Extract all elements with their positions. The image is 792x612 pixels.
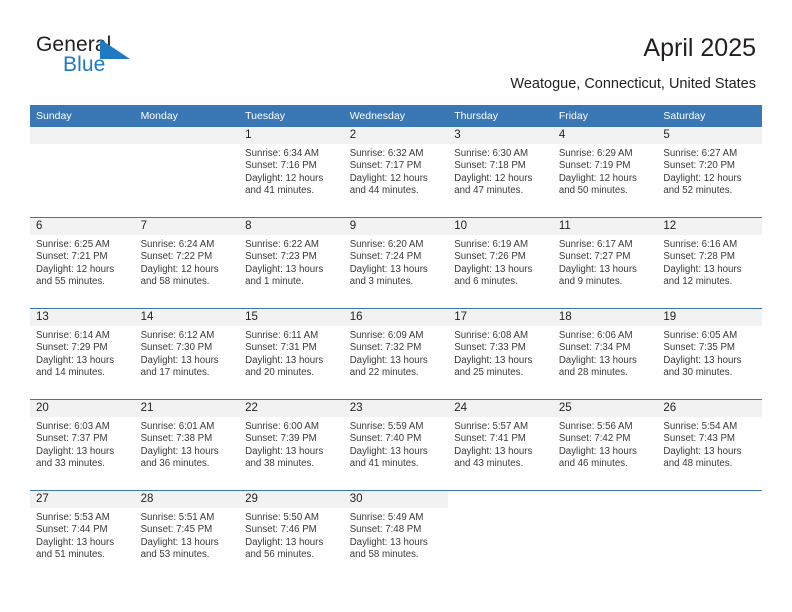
day-sun-info: Sunrise: 6:03 AMSunset: 7:37 PMDaylight:… [30, 417, 135, 471]
day-cell-inner: 23Sunrise: 5:59 AMSunset: 7:40 PMDayligh… [344, 400, 449, 490]
sunset-time: Sunset: 7:29 PM [36, 342, 129, 354]
day-cell-inner: 14Sunrise: 6:12 AMSunset: 7:30 PMDayligh… [135, 309, 240, 399]
day-sun-info: Sunrise: 6:06 AMSunset: 7:34 PMDaylight:… [553, 326, 658, 380]
calendar-day-cell[interactable]: 11Sunrise: 6:17 AMSunset: 7:27 PMDayligh… [553, 218, 658, 309]
day-number: 9 [344, 218, 449, 235]
day-cell-inner: 6Sunrise: 6:25 AMSunset: 7:21 PMDaylight… [30, 218, 135, 308]
calendar-day-cell[interactable]: 7Sunrise: 6:24 AMSunset: 7:22 PMDaylight… [135, 218, 240, 309]
daylight-duration-line2: and 6 minutes. [454, 276, 547, 288]
day-number: 6 [30, 218, 135, 235]
daylight-duration-line1: Daylight: 12 hours [141, 264, 234, 276]
sunrise-time: Sunrise: 6:22 AM [245, 239, 338, 251]
day-number: 11 [553, 218, 658, 235]
daylight-duration-line2: and 38 minutes. [245, 458, 338, 470]
sunrise-time: Sunrise: 6:08 AM [454, 330, 547, 342]
day-sun-info: Sunrise: 6:05 AMSunset: 7:35 PMDaylight:… [657, 326, 762, 380]
daylight-duration-line1: Daylight: 13 hours [663, 264, 756, 276]
sunset-time: Sunset: 7:27 PM [559, 251, 652, 263]
day-cell-inner [30, 127, 135, 217]
daylight-duration-line1: Daylight: 12 hours [245, 173, 338, 185]
calendar-day-cell[interactable]: 27Sunrise: 5:53 AMSunset: 7:44 PMDayligh… [30, 491, 135, 582]
sunrise-time: Sunrise: 5:50 AM [245, 512, 338, 524]
sunrise-time: Sunrise: 5:49 AM [350, 512, 443, 524]
day-cell-inner [135, 127, 240, 217]
day-cell-inner: 25Sunrise: 5:56 AMSunset: 7:42 PMDayligh… [553, 400, 658, 490]
day-number: 23 [344, 400, 449, 417]
day-cell-inner: 19Sunrise: 6:05 AMSunset: 7:35 PMDayligh… [657, 309, 762, 399]
sunrise-time: Sunrise: 6:12 AM [141, 330, 234, 342]
day-sun-info: Sunrise: 6:19 AMSunset: 7:26 PMDaylight:… [448, 235, 553, 289]
day-cell-inner: 15Sunrise: 6:11 AMSunset: 7:31 PMDayligh… [239, 309, 344, 399]
day-cell-inner: 29Sunrise: 5:50 AMSunset: 7:46 PMDayligh… [239, 491, 344, 581]
calendar-day-cell[interactable]: 3Sunrise: 6:30 AMSunset: 7:18 PMDaylight… [448, 127, 553, 218]
day-cell-inner: 18Sunrise: 6:06 AMSunset: 7:34 PMDayligh… [553, 309, 658, 399]
sunrise-time: Sunrise: 6:29 AM [559, 148, 652, 160]
sunrise-time: Sunrise: 6:17 AM [559, 239, 652, 251]
daylight-duration-line1: Daylight: 13 hours [245, 446, 338, 458]
day-sun-info: Sunrise: 5:53 AMSunset: 7:44 PMDaylight:… [30, 508, 135, 562]
day-sun-info: Sunrise: 5:54 AMSunset: 7:43 PMDaylight:… [657, 417, 762, 471]
sunset-time: Sunset: 7:30 PM [141, 342, 234, 354]
day-sun-info: Sunrise: 6:27 AMSunset: 7:20 PMDaylight:… [657, 144, 762, 198]
sunset-time: Sunset: 7:41 PM [454, 433, 547, 445]
calendar-week-row: 20Sunrise: 6:03 AMSunset: 7:37 PMDayligh… [30, 400, 762, 491]
daylight-duration-line1: Daylight: 13 hours [36, 446, 129, 458]
calendar-day-cell[interactable]: 4Sunrise: 6:29 AMSunset: 7:19 PMDaylight… [553, 127, 658, 218]
day-cell-inner: 4Sunrise: 6:29 AMSunset: 7:19 PMDaylight… [553, 127, 658, 217]
daylight-duration-line1: Daylight: 13 hours [663, 446, 756, 458]
day-sun-info: Sunrise: 6:24 AMSunset: 7:22 PMDaylight:… [135, 235, 240, 289]
day-sun-info: Sunrise: 5:51 AMSunset: 7:45 PMDaylight:… [135, 508, 240, 562]
sunrise-sunset-calendar: Sunday Monday Tuesday Wednesday Thursday… [30, 105, 762, 581]
daylight-duration-line2: and 53 minutes. [141, 549, 234, 561]
daylight-duration-line2: and 25 minutes. [454, 367, 547, 379]
calendar-day-cell[interactable]: 29Sunrise: 5:50 AMSunset: 7:46 PMDayligh… [239, 491, 344, 582]
calendar-day-cell[interactable]: 1Sunrise: 6:34 AMSunset: 7:16 PMDaylight… [239, 127, 344, 218]
sunrise-time: Sunrise: 5:57 AM [454, 421, 547, 433]
day-number: 27 [30, 491, 135, 508]
day-number [657, 491, 762, 508]
calendar-day-cell[interactable]: 15Sunrise: 6:11 AMSunset: 7:31 PMDayligh… [239, 309, 344, 400]
day-number: 22 [239, 400, 344, 417]
daylight-duration-line2: and 22 minutes. [350, 367, 443, 379]
day-cell-inner: 30Sunrise: 5:49 AMSunset: 7:48 PMDayligh… [344, 491, 449, 581]
daylight-duration-line1: Daylight: 13 hours [454, 264, 547, 276]
sunset-time: Sunset: 7:35 PM [663, 342, 756, 354]
daylight-duration-line2: and 55 minutes. [36, 276, 129, 288]
day-sun-info: Sunrise: 6:12 AMSunset: 7:30 PMDaylight:… [135, 326, 240, 380]
sunrise-time: Sunrise: 6:34 AM [245, 148, 338, 160]
daylight-duration-line2: and 17 minutes. [141, 367, 234, 379]
calendar-day-cell-empty [135, 127, 240, 218]
daylight-duration-line1: Daylight: 13 hours [245, 537, 338, 549]
calendar-week-row: 27Sunrise: 5:53 AMSunset: 7:44 PMDayligh… [30, 491, 762, 582]
calendar-week-row: 1Sunrise: 6:34 AMSunset: 7:16 PMDaylight… [30, 127, 762, 218]
daylight-duration-line2: and 3 minutes. [350, 276, 443, 288]
sunset-time: Sunset: 7:42 PM [559, 433, 652, 445]
calendar-day-cell[interactable]: 6Sunrise: 6:25 AMSunset: 7:21 PMDaylight… [30, 218, 135, 309]
sunrise-time: Sunrise: 6:14 AM [36, 330, 129, 342]
daylight-duration-line2: and 43 minutes. [454, 458, 547, 470]
daylight-duration-line2: and 52 minutes. [663, 185, 756, 197]
day-number: 18 [553, 309, 658, 326]
day-cell-inner: 1Sunrise: 6:34 AMSunset: 7:16 PMDaylight… [239, 127, 344, 217]
weekday-header-friday: Friday [553, 105, 658, 127]
day-cell-inner [448, 491, 553, 581]
day-number: 8 [239, 218, 344, 235]
day-sun-info: Sunrise: 5:49 AMSunset: 7:48 PMDaylight:… [344, 508, 449, 562]
daylight-duration-line2: and 9 minutes. [559, 276, 652, 288]
daylight-duration-line1: Daylight: 13 hours [350, 264, 443, 276]
page-subtitle: Weatogue, Connecticut, United States [510, 76, 756, 92]
day-sun-info: Sunrise: 6:00 AMSunset: 7:39 PMDaylight:… [239, 417, 344, 471]
sunrise-time: Sunrise: 5:53 AM [36, 512, 129, 524]
day-sun-info: Sunrise: 6:09 AMSunset: 7:32 PMDaylight:… [344, 326, 449, 380]
daylight-duration-line1: Daylight: 12 hours [36, 264, 129, 276]
sunset-time: Sunset: 7:26 PM [454, 251, 547, 263]
day-number [553, 491, 658, 508]
sunrise-time: Sunrise: 5:59 AM [350, 421, 443, 433]
sunrise-time: Sunrise: 6:05 AM [663, 330, 756, 342]
daylight-duration-line1: Daylight: 13 hours [350, 446, 443, 458]
calendar-day-cell[interactable]: 16Sunrise: 6:09 AMSunset: 7:32 PMDayligh… [344, 309, 449, 400]
day-sun-info: Sunrise: 6:22 AMSunset: 7:23 PMDaylight:… [239, 235, 344, 289]
daylight-duration-line1: Daylight: 13 hours [663, 355, 756, 367]
calendar-week-row: 6Sunrise: 6:25 AMSunset: 7:21 PMDaylight… [30, 218, 762, 309]
sunset-time: Sunset: 7:16 PM [245, 160, 338, 172]
calendar-day-cell[interactable]: 21Sunrise: 6:01 AMSunset: 7:38 PMDayligh… [135, 400, 240, 491]
day-sun-info: Sunrise: 6:16 AMSunset: 7:28 PMDaylight:… [657, 235, 762, 289]
day-number: 2 [344, 127, 449, 144]
day-sun-info: Sunrise: 6:30 AMSunset: 7:18 PMDaylight:… [448, 144, 553, 198]
day-number: 10 [448, 218, 553, 235]
daylight-duration-line1: Daylight: 12 hours [350, 173, 443, 185]
sunrise-time: Sunrise: 6:01 AM [141, 421, 234, 433]
daylight-duration-line1: Daylight: 12 hours [663, 173, 756, 185]
daylight-duration-line1: Daylight: 13 hours [141, 355, 234, 367]
sunset-time: Sunset: 7:48 PM [350, 524, 443, 536]
sunrise-time: Sunrise: 5:51 AM [141, 512, 234, 524]
sunset-time: Sunset: 7:31 PM [245, 342, 338, 354]
daylight-duration-line2: and 58 minutes. [141, 276, 234, 288]
daylight-duration-line2: and 51 minutes. [36, 549, 129, 561]
calendar-week-row: 13Sunrise: 6:14 AMSunset: 7:29 PMDayligh… [30, 309, 762, 400]
sunrise-time: Sunrise: 5:54 AM [663, 421, 756, 433]
daylight-duration-line2: and 12 minutes. [663, 276, 756, 288]
weekday-header-wednesday: Wednesday [344, 105, 449, 127]
day-number: 16 [344, 309, 449, 326]
day-sun-info: Sunrise: 6:17 AMSunset: 7:27 PMDaylight:… [553, 235, 658, 289]
daylight-duration-line1: Daylight: 13 hours [245, 355, 338, 367]
page-title: April 2025 [643, 34, 756, 63]
sunset-time: Sunset: 7:43 PM [663, 433, 756, 445]
page-header: General Blue April 2025 Weatogue, Connec… [0, 0, 792, 100]
day-sun-info: Sunrise: 6:14 AMSunset: 7:29 PMDaylight:… [30, 326, 135, 380]
calendar-day-cell[interactable]: 13Sunrise: 6:14 AMSunset: 7:29 PMDayligh… [30, 309, 135, 400]
sunset-time: Sunset: 7:34 PM [559, 342, 652, 354]
day-number: 7 [135, 218, 240, 235]
day-cell-inner: 26Sunrise: 5:54 AMSunset: 7:43 PMDayligh… [657, 400, 762, 490]
calendar-day-cell[interactable]: 17Sunrise: 6:08 AMSunset: 7:33 PMDayligh… [448, 309, 553, 400]
day-cell-inner: 27Sunrise: 5:53 AMSunset: 7:44 PMDayligh… [30, 491, 135, 581]
day-cell-inner: 11Sunrise: 6:17 AMSunset: 7:27 PMDayligh… [553, 218, 658, 308]
daylight-duration-line2: and 28 minutes. [559, 367, 652, 379]
calendar-page: General Blue April 2025 Weatogue, Connec… [0, 0, 792, 612]
day-number: 20 [30, 400, 135, 417]
day-number: 29 [239, 491, 344, 508]
calendar-day-cell[interactable]: 19Sunrise: 6:05 AMSunset: 7:35 PMDayligh… [657, 309, 762, 400]
day-cell-inner: 22Sunrise: 6:00 AMSunset: 7:39 PMDayligh… [239, 400, 344, 490]
daylight-duration-line1: Daylight: 13 hours [245, 264, 338, 276]
daylight-duration-line2: and 46 minutes. [559, 458, 652, 470]
day-sun-info: Sunrise: 5:50 AMSunset: 7:46 PMDaylight:… [239, 508, 344, 562]
sunset-time: Sunset: 7:21 PM [36, 251, 129, 263]
daylight-duration-line2: and 20 minutes. [245, 367, 338, 379]
calendar-day-cell[interactable]: 22Sunrise: 6:00 AMSunset: 7:39 PMDayligh… [239, 400, 344, 491]
sunset-time: Sunset: 7:24 PM [350, 251, 443, 263]
day-sun-info: Sunrise: 6:32 AMSunset: 7:17 PMDaylight:… [344, 144, 449, 198]
sunset-time: Sunset: 7:20 PM [663, 160, 756, 172]
sunrise-time: Sunrise: 6:09 AM [350, 330, 443, 342]
daylight-duration-line2: and 48 minutes. [663, 458, 756, 470]
day-number: 12 [657, 218, 762, 235]
day-cell-inner [657, 491, 762, 581]
day-cell-inner: 24Sunrise: 5:57 AMSunset: 7:41 PMDayligh… [448, 400, 553, 490]
daylight-duration-line1: Daylight: 13 hours [141, 446, 234, 458]
sunset-time: Sunset: 7:44 PM [36, 524, 129, 536]
sunrise-time: Sunrise: 6:27 AM [663, 148, 756, 160]
weekday-header-tuesday: Tuesday [239, 105, 344, 127]
day-cell-inner: 17Sunrise: 6:08 AMSunset: 7:33 PMDayligh… [448, 309, 553, 399]
daylight-duration-line2: and 30 minutes. [663, 367, 756, 379]
daylight-duration-line1: Daylight: 13 hours [454, 355, 547, 367]
day-sun-info: Sunrise: 6:01 AMSunset: 7:38 PMDaylight:… [135, 417, 240, 471]
calendar-day-cell-empty [448, 491, 553, 582]
day-sun-info: Sunrise: 5:56 AMSunset: 7:42 PMDaylight:… [553, 417, 658, 471]
day-number [30, 127, 135, 144]
sunset-time: Sunset: 7:22 PM [141, 251, 234, 263]
daylight-duration-line2: and 44 minutes. [350, 185, 443, 197]
sunset-time: Sunset: 7:17 PM [350, 160, 443, 172]
day-number: 14 [135, 309, 240, 326]
sunrise-time: Sunrise: 6:00 AM [245, 421, 338, 433]
day-number: 24 [448, 400, 553, 417]
daylight-duration-line2: and 58 minutes. [350, 549, 443, 561]
sunset-time: Sunset: 7:32 PM [350, 342, 443, 354]
day-number: 4 [553, 127, 658, 144]
daylight-duration-line1: Daylight: 12 hours [559, 173, 652, 185]
day-sun-info: Sunrise: 6:08 AMSunset: 7:33 PMDaylight:… [448, 326, 553, 380]
calendar-day-cell[interactable]: 20Sunrise: 6:03 AMSunset: 7:37 PMDayligh… [30, 400, 135, 491]
day-sun-info: Sunrise: 6:34 AMSunset: 7:16 PMDaylight:… [239, 144, 344, 198]
calendar-day-cell[interactable]: 5Sunrise: 6:27 AMSunset: 7:20 PMDaylight… [657, 127, 762, 218]
sunset-time: Sunset: 7:28 PM [663, 251, 756, 263]
day-cell-inner: 7Sunrise: 6:24 AMSunset: 7:22 PMDaylight… [135, 218, 240, 308]
calendar-day-cell[interactable]: 23Sunrise: 5:59 AMSunset: 7:40 PMDayligh… [344, 400, 449, 491]
day-cell-inner: 12Sunrise: 6:16 AMSunset: 7:28 PMDayligh… [657, 218, 762, 308]
calendar-day-cell-empty [553, 491, 658, 582]
sunset-time: Sunset: 7:37 PM [36, 433, 129, 445]
sunrise-time: Sunrise: 6:11 AM [245, 330, 338, 342]
weekday-header-sunday: Sunday [30, 105, 135, 127]
day-number: 3 [448, 127, 553, 144]
calendar-day-cell[interactable]: 18Sunrise: 6:06 AMSunset: 7:34 PMDayligh… [553, 309, 658, 400]
sunrise-time: Sunrise: 6:06 AM [559, 330, 652, 342]
sunrise-time: Sunrise: 6:03 AM [36, 421, 129, 433]
sunrise-time: Sunrise: 6:32 AM [350, 148, 443, 160]
day-number: 13 [30, 309, 135, 326]
weekday-header-thursday: Thursday [448, 105, 553, 127]
weekday-header-monday: Monday [135, 105, 240, 127]
day-cell-inner: 13Sunrise: 6:14 AMSunset: 7:29 PMDayligh… [30, 309, 135, 399]
day-number: 21 [135, 400, 240, 417]
daylight-duration-line1: Daylight: 13 hours [36, 537, 129, 549]
daylight-duration-line1: Daylight: 13 hours [559, 355, 652, 367]
daylight-duration-line2: and 33 minutes. [36, 458, 129, 470]
daylight-duration-line2: and 41 minutes. [245, 185, 338, 197]
day-sun-info: Sunrise: 6:20 AMSunset: 7:24 PMDaylight:… [344, 235, 449, 289]
sunrise-time: Sunrise: 5:56 AM [559, 421, 652, 433]
sunset-time: Sunset: 7:40 PM [350, 433, 443, 445]
sunrise-time: Sunrise: 6:30 AM [454, 148, 547, 160]
sunrise-time: Sunrise: 6:16 AM [663, 239, 756, 251]
day-number: 25 [553, 400, 658, 417]
daylight-duration-line1: Daylight: 13 hours [350, 537, 443, 549]
logo-text-blue: Blue [63, 53, 105, 77]
sunset-time: Sunset: 7:18 PM [454, 160, 547, 172]
calendar-day-cell[interactable]: 14Sunrise: 6:12 AMSunset: 7:30 PMDayligh… [135, 309, 240, 400]
day-number [135, 127, 240, 144]
daylight-duration-line2: and 14 minutes. [36, 367, 129, 379]
sunset-time: Sunset: 7:19 PM [559, 160, 652, 172]
day-number [448, 491, 553, 508]
day-number: 28 [135, 491, 240, 508]
calendar-day-cell[interactable]: 10Sunrise: 6:19 AMSunset: 7:26 PMDayligh… [448, 218, 553, 309]
daylight-duration-line2: and 36 minutes. [141, 458, 234, 470]
day-number: 15 [239, 309, 344, 326]
daylight-duration-line2: and 56 minutes. [245, 549, 338, 561]
day-cell-inner: 16Sunrise: 6:09 AMSunset: 7:32 PMDayligh… [344, 309, 449, 399]
sunset-time: Sunset: 7:45 PM [141, 524, 234, 536]
day-number: 5 [657, 127, 762, 144]
calendar-day-cell[interactable]: 2Sunrise: 6:32 AMSunset: 7:17 PMDaylight… [344, 127, 449, 218]
general-blue-logo[interactable]: General Blue [36, 33, 216, 83]
sunrise-time: Sunrise: 6:24 AM [141, 239, 234, 251]
sunset-time: Sunset: 7:46 PM [245, 524, 338, 536]
day-cell-inner: 2Sunrise: 6:32 AMSunset: 7:17 PMDaylight… [344, 127, 449, 217]
calendar-day-cell[interactable]: 28Sunrise: 5:51 AMSunset: 7:45 PMDayligh… [135, 491, 240, 582]
calendar-day-cell[interactable]: 24Sunrise: 5:57 AMSunset: 7:41 PMDayligh… [448, 400, 553, 491]
sunrise-time: Sunrise: 6:25 AM [36, 239, 129, 251]
daylight-duration-line1: Daylight: 13 hours [559, 264, 652, 276]
day-cell-inner: 9Sunrise: 6:20 AMSunset: 7:24 PMDaylight… [344, 218, 449, 308]
day-sun-info: Sunrise: 5:57 AMSunset: 7:41 PMDaylight:… [448, 417, 553, 471]
day-sun-info: Sunrise: 6:11 AMSunset: 7:31 PMDaylight:… [239, 326, 344, 380]
daylight-duration-line2: and 41 minutes. [350, 458, 443, 470]
day-cell-inner: 21Sunrise: 6:01 AMSunset: 7:38 PMDayligh… [135, 400, 240, 490]
day-sun-info: Sunrise: 6:25 AMSunset: 7:21 PMDaylight:… [30, 235, 135, 289]
day-sun-info: Sunrise: 5:59 AMSunset: 7:40 PMDaylight:… [344, 417, 449, 471]
day-number: 30 [344, 491, 449, 508]
calendar-day-cell[interactable]: 9Sunrise: 6:20 AMSunset: 7:24 PMDaylight… [344, 218, 449, 309]
day-cell-inner: 10Sunrise: 6:19 AMSunset: 7:26 PMDayligh… [448, 218, 553, 308]
weekday-header-row: Sunday Monday Tuesday Wednesday Thursday… [30, 105, 762, 127]
daylight-duration-line2: and 1 minute. [245, 276, 338, 288]
day-cell-inner [553, 491, 658, 581]
sunset-time: Sunset: 7:23 PM [245, 251, 338, 263]
daylight-duration-line1: Daylight: 13 hours [350, 355, 443, 367]
day-cell-inner: 8Sunrise: 6:22 AMSunset: 7:23 PMDaylight… [239, 218, 344, 308]
daylight-duration-line2: and 47 minutes. [454, 185, 547, 197]
day-number: 26 [657, 400, 762, 417]
calendar-day-cell[interactable]: 12Sunrise: 6:16 AMSunset: 7:28 PMDayligh… [657, 218, 762, 309]
day-sun-info: Sunrise: 6:29 AMSunset: 7:19 PMDaylight:… [553, 144, 658, 198]
daylight-duration-line2: and 50 minutes. [559, 185, 652, 197]
calendar-day-cell[interactable]: 30Sunrise: 5:49 AMSunset: 7:48 PMDayligh… [344, 491, 449, 582]
sunrise-time: Sunrise: 6:19 AM [454, 239, 547, 251]
daylight-duration-line1: Daylight: 13 hours [454, 446, 547, 458]
day-number: 19 [657, 309, 762, 326]
sunset-time: Sunset: 7:39 PM [245, 433, 338, 445]
calendar-day-cell-empty [657, 491, 762, 582]
daylight-duration-line1: Daylight: 13 hours [559, 446, 652, 458]
calendar-day-cell[interactable]: 25Sunrise: 5:56 AMSunset: 7:42 PMDayligh… [553, 400, 658, 491]
day-number: 17 [448, 309, 553, 326]
daylight-duration-line1: Daylight: 12 hours [454, 173, 547, 185]
day-cell-inner: 5Sunrise: 6:27 AMSunset: 7:20 PMDaylight… [657, 127, 762, 217]
calendar-body: 1Sunrise: 6:34 AMSunset: 7:16 PMDaylight… [30, 127, 762, 581]
day-cell-inner: 20Sunrise: 6:03 AMSunset: 7:37 PMDayligh… [30, 400, 135, 490]
calendar-day-cell-empty [30, 127, 135, 218]
sunset-time: Sunset: 7:38 PM [141, 433, 234, 445]
day-cell-inner: 3Sunrise: 6:30 AMSunset: 7:18 PMDaylight… [448, 127, 553, 217]
sunset-time: Sunset: 7:33 PM [454, 342, 547, 354]
daylight-duration-line1: Daylight: 13 hours [141, 537, 234, 549]
sunrise-time: Sunrise: 6:20 AM [350, 239, 443, 251]
day-number: 1 [239, 127, 344, 144]
day-cell-inner: 28Sunrise: 5:51 AMSunset: 7:45 PMDayligh… [135, 491, 240, 581]
calendar-day-cell[interactable]: 8Sunrise: 6:22 AMSunset: 7:23 PMDaylight… [239, 218, 344, 309]
weekday-header-saturday: Saturday [657, 105, 762, 127]
calendar-day-cell[interactable]: 26Sunrise: 5:54 AMSunset: 7:43 PMDayligh… [657, 400, 762, 491]
daylight-duration-line1: Daylight: 13 hours [36, 355, 129, 367]
